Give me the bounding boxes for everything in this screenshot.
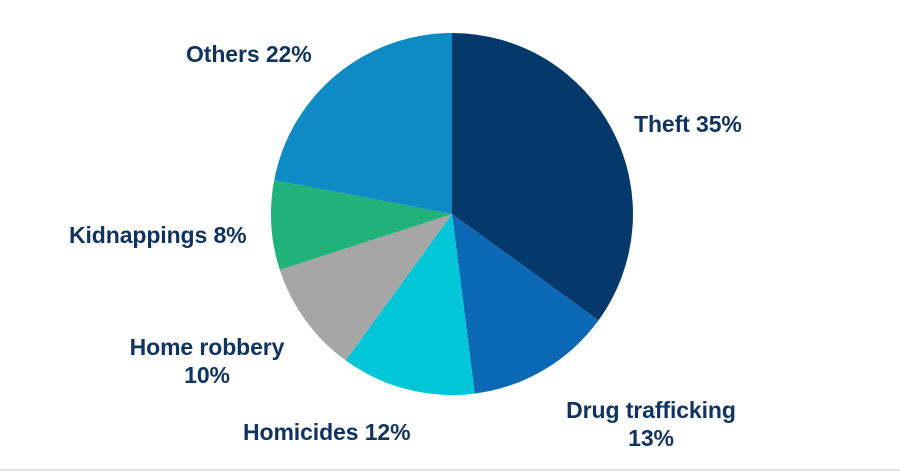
pie-label-others: Others 22%: [186, 40, 312, 68]
pie-chart-figure: Theft 35% Drug trafficking 13% Homicides…: [0, 0, 900, 471]
pie-label-drug-trafficking: Drug trafficking 13%: [545, 396, 757, 452]
pie-label-kidnappings: Kidnappings 8%: [69, 221, 247, 249]
pie-svg: [271, 33, 633, 395]
pie-label-home-robbery: Home robbery 10%: [112, 333, 302, 389]
pie-chart-graphic: [271, 33, 633, 395]
pie-label-homicides: Homicides 12%: [243, 418, 410, 446]
pie-slice-group: [271, 33, 633, 395]
pie-label-theft: Theft 35%: [634, 110, 742, 138]
